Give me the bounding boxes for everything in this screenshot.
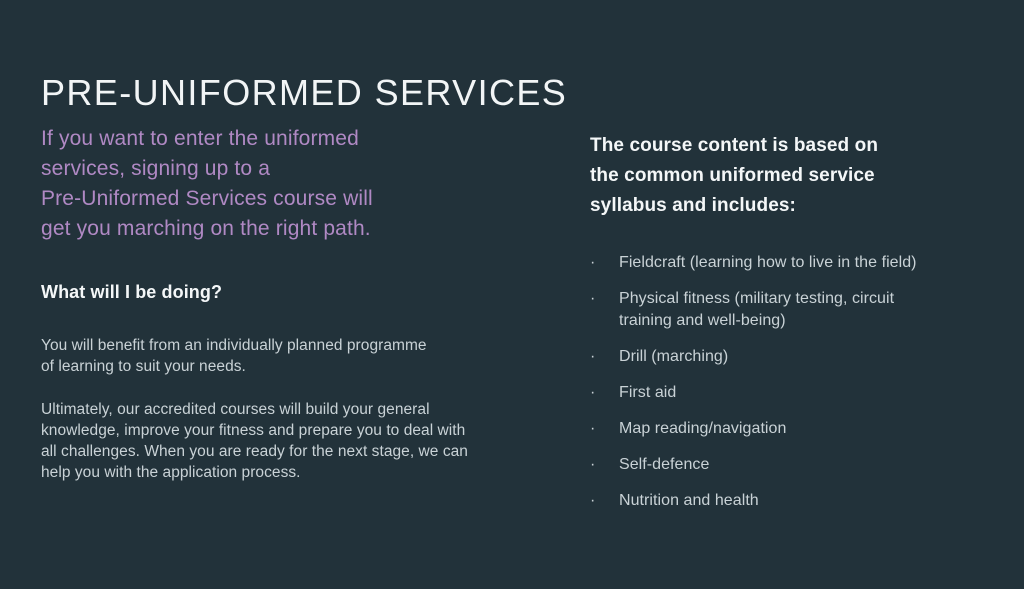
intro-line: services, signing up to a bbox=[41, 154, 545, 184]
list-item-text: Map reading/navigation bbox=[619, 418, 984, 440]
body-paragraph-2: Ultimately, our accredited courses will … bbox=[41, 399, 545, 483]
body-line: all challenges. When you are ready for t… bbox=[41, 441, 545, 462]
intro-paragraph: If you want to enter the uniformed servi… bbox=[41, 124, 545, 244]
right-column: The course content is based on the commo… bbox=[545, 124, 1024, 512]
bullet-dot-icon: · bbox=[590, 454, 600, 476]
spacer bbox=[41, 303, 545, 335]
list-item: · Self-defence bbox=[590, 454, 984, 476]
intro-line: get you marching on the right path. bbox=[41, 214, 545, 244]
list-item: · Fieldcraft (learning how to live in th… bbox=[590, 252, 984, 274]
spacer bbox=[41, 377, 545, 399]
intro-line: If you want to enter the uniformed bbox=[41, 124, 545, 154]
bullet-dot-icon: · bbox=[590, 382, 600, 404]
slide-root: PRE-UNIFORMED SERVICES If you want to en… bbox=[0, 0, 1024, 589]
list-item-line: Self-defence bbox=[619, 454, 984, 476]
bullet-dot-icon: · bbox=[590, 288, 600, 310]
list-item-line: training and well-being) bbox=[619, 310, 984, 332]
bullet-dot-icon: · bbox=[590, 346, 600, 368]
body-line: help you with the application process. bbox=[41, 462, 545, 483]
intro-line: Pre-Uniformed Services course will bbox=[41, 184, 545, 214]
list-item-text: Fieldcraft (learning how to live in the … bbox=[619, 252, 984, 274]
list-item-text: Self-defence bbox=[619, 454, 984, 476]
body-paragraph-1: You will benefit from an individually pl… bbox=[41, 335, 545, 377]
page-title: PRE-UNIFORMED SERVICES bbox=[41, 72, 567, 113]
content-columns: If you want to enter the uniformed servi… bbox=[0, 124, 1024, 512]
course-content-heading: The course content is based on the commo… bbox=[590, 131, 984, 221]
list-item: · First aid bbox=[590, 382, 984, 404]
list-item-line: Drill (marching) bbox=[619, 346, 984, 368]
left-column: If you want to enter the uniformed servi… bbox=[0, 124, 545, 483]
list-item: · Nutrition and health bbox=[590, 490, 984, 512]
list-item: · Map reading/navigation bbox=[590, 418, 984, 440]
list-item-line: First aid bbox=[619, 382, 984, 404]
list-item: · Drill (marching) bbox=[590, 346, 984, 368]
list-item-line: Fieldcraft (learning how to live in the … bbox=[619, 252, 984, 274]
bullet-dot-icon: · bbox=[590, 418, 600, 440]
body-line: You will benefit from an individually pl… bbox=[41, 335, 545, 356]
sub-heading: What will I be doing? bbox=[41, 282, 545, 303]
spacer bbox=[41, 244, 545, 282]
list-item-text: Drill (marching) bbox=[619, 346, 984, 368]
list-item-text: Physical fitness (military testing, circ… bbox=[619, 288, 984, 332]
body-line: knowledge, improve your fitness and prep… bbox=[41, 420, 545, 441]
bullet-dot-icon: · bbox=[590, 490, 600, 512]
body-line: of learning to suit your needs. bbox=[41, 356, 545, 377]
list-item-line: Nutrition and health bbox=[619, 490, 984, 512]
body-line: Ultimately, our accredited courses will … bbox=[41, 399, 545, 420]
heading-line: syllabus and includes: bbox=[590, 191, 984, 221]
heading-line: The course content is based on bbox=[590, 131, 984, 161]
list-item-line: Map reading/navigation bbox=[619, 418, 984, 440]
list-item-line: Physical fitness (military testing, circ… bbox=[619, 288, 984, 310]
course-content-list: · Fieldcraft (learning how to live in th… bbox=[590, 252, 984, 512]
list-item-text: Nutrition and health bbox=[619, 490, 984, 512]
list-item: · Physical fitness (military testing, ci… bbox=[590, 288, 984, 332]
bullet-dot-icon: · bbox=[590, 252, 600, 274]
list-item-text: First aid bbox=[619, 382, 984, 404]
heading-line: the common uniformed service bbox=[590, 161, 984, 191]
